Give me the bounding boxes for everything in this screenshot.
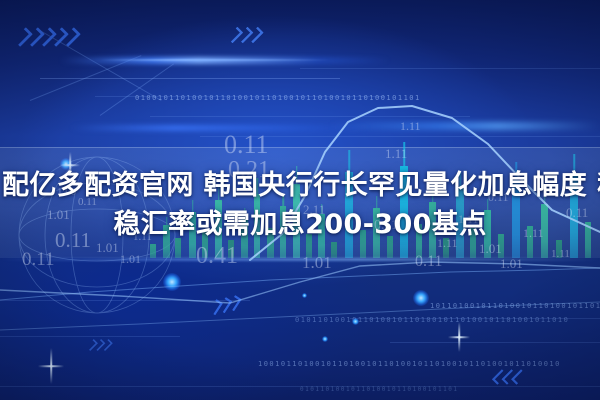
headline-line-1: 配亿多配资官网 韩国央行行长罕见量化加息幅度 称	[0, 166, 600, 205]
headline-line-2: 稳汇率或需加息200-300基点	[0, 205, 600, 244]
news-banner-image: 0100101101001011010010110100101101001011…	[0, 0, 600, 400]
headline-block: 配亿多配资官网 韩国央行行长罕见量化加息幅度 称 稳汇率或需加息200-300基…	[0, 166, 600, 244]
